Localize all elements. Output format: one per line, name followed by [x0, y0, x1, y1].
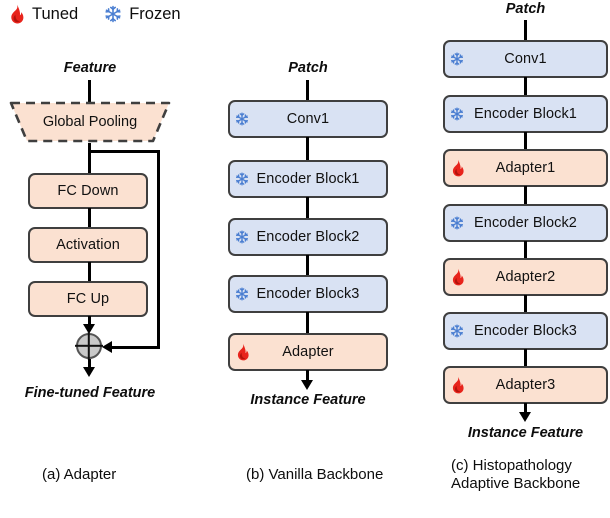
flame-icon	[450, 159, 465, 177]
node-adapter3-c-label: Adapter3	[496, 377, 556, 393]
node-encoder-block3-c-label: Encoder Block3	[474, 323, 577, 339]
node-adapter2-c-label: Adapter2	[496, 269, 556, 285]
edge-c-5	[524, 295, 527, 313]
node-fc-up-label: FC Up	[67, 291, 109, 307]
edge-c-6	[524, 349, 527, 367]
edge-c-1	[524, 77, 527, 96]
arrowhead-c-output	[519, 412, 531, 422]
edge-c-4	[524, 241, 527, 259]
legend: Tuned Frozen	[8, 4, 181, 24]
node-adapter1-c: Adapter1	[443, 149, 608, 187]
snowflake-icon	[450, 107, 464, 121]
snowflake-icon	[235, 230, 249, 244]
node-fc-up: FC Up	[28, 281, 148, 317]
edge-residual-branch-top	[88, 150, 160, 153]
node-global-pooling: Global Pooling	[8, 100, 172, 144]
edge-fcdown-to-activation	[88, 208, 91, 228]
node-encoder-block2-b-label: Encoder Block2	[257, 229, 360, 245]
node-conv1-b-label: Conv1	[287, 111, 329, 127]
legend-label-tuned: Tuned	[32, 6, 78, 23]
node-activation: Activation	[28, 227, 148, 263]
arrowhead-b-output	[301, 380, 313, 390]
caption-panel-a: (a) Adapter	[42, 466, 222, 484]
edge-b-2	[306, 197, 309, 219]
hist-input-label: Patch	[443, 1, 608, 17]
edge-b-4	[306, 312, 309, 334]
legend-item-frozen: Frozen	[104, 5, 180, 23]
caption-panel-c: (c) Histopathology Adaptive Backbone	[451, 457, 610, 494]
edge-c-3	[524, 186, 527, 205]
flame-icon	[8, 4, 25, 24]
node-encoder-block3-b: Encoder Block3	[228, 275, 388, 313]
adapter-input-label: Feature	[0, 60, 180, 76]
vanilla-output-label: Instance Feature	[228, 392, 388, 408]
flame-icon	[450, 376, 465, 394]
flame-icon	[450, 268, 465, 286]
edge-c-2	[524, 132, 527, 150]
caption-panel-b: (b) Vanilla Backbone	[246, 466, 436, 484]
node-adapter2-c: Adapter2	[443, 258, 608, 296]
node-conv1-c-label: Conv1	[504, 51, 546, 67]
node-encoder-block1-b-label: Encoder Block1	[257, 171, 360, 187]
snowflake-icon	[235, 112, 249, 126]
snowflake-icon	[235, 172, 249, 186]
residual-sum-operator	[76, 333, 102, 359]
node-adapter-b-label: Adapter	[282, 344, 334, 360]
node-fc-down-label: FC Down	[57, 183, 118, 199]
edge-b-1	[306, 137, 309, 161]
arrowhead-sum-to-output	[83, 367, 95, 377]
node-adapter1-c-label: Adapter1	[496, 160, 556, 176]
legend-item-tuned: Tuned	[8, 4, 78, 24]
edge-pooling-to-fcdown	[88, 143, 91, 174]
edge-b-3	[306, 255, 309, 276]
node-encoder-block3-c: Encoder Block3	[443, 312, 608, 350]
edge-patch-to-conv1-c	[524, 20, 527, 42]
node-global-pooling-label: Global Pooling	[43, 114, 137, 130]
snowflake-icon	[104, 5, 122, 23]
node-fc-down: FC Down	[28, 173, 148, 209]
snowflake-icon	[235, 287, 249, 301]
flame-icon	[235, 343, 250, 361]
node-encoder-block1-c-label: Encoder Block1	[474, 106, 577, 122]
node-encoder-block1-b: Encoder Block1	[228, 160, 388, 198]
node-encoder-block2-b: Encoder Block2	[228, 218, 388, 256]
hist-output-label: Instance Feature	[443, 425, 608, 441]
node-encoder-block1-c: Encoder Block1	[443, 95, 608, 133]
vanilla-input-label: Patch	[228, 60, 388, 76]
figure-root: Tuned Frozen	[0, 0, 610, 518]
legend-label-frozen: Frozen	[129, 6, 180, 23]
node-encoder-block3-b-label: Encoder Block3	[257, 286, 360, 302]
snowflake-icon	[450, 52, 464, 66]
node-conv1-b: Conv1	[228, 100, 388, 138]
edge-residual-branch-bottom	[110, 346, 160, 349]
snowflake-icon	[450, 216, 464, 230]
adapter-output-label: Fine-tuned Feature	[0, 385, 180, 401]
edge-activation-to-fcup	[88, 262, 91, 282]
edge-feature-to-pooling	[88, 80, 91, 102]
node-adapter3-c: Adapter3	[443, 366, 608, 404]
node-adapter-b: Adapter	[228, 333, 388, 371]
node-encoder-block2-c: Encoder Block2	[443, 204, 608, 242]
arrowhead-residual-into-sum	[102, 341, 112, 353]
edge-residual-branch-right	[157, 150, 160, 348]
node-conv1-c: Conv1	[443, 40, 608, 78]
snowflake-icon	[450, 324, 464, 338]
node-activation-label: Activation	[56, 237, 120, 253]
edge-patch-to-conv1-b	[306, 80, 309, 102]
node-encoder-block2-c-label: Encoder Block2	[474, 215, 577, 231]
